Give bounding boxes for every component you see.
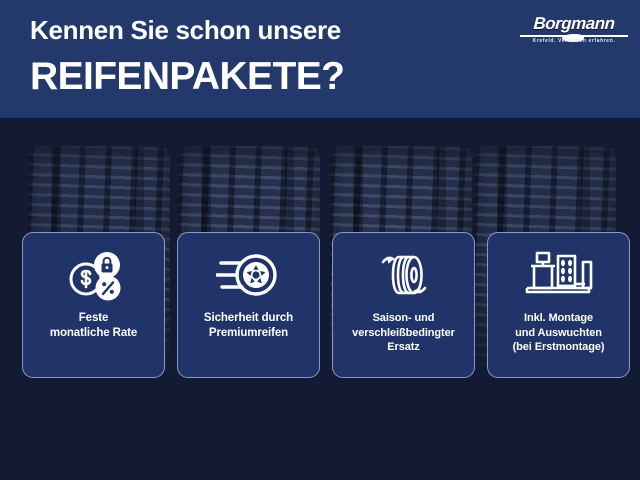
- logo-tagline: Krefeld. Vertrauen erfahren.: [518, 38, 630, 44]
- feature-card-line1: Saison- und: [338, 311, 470, 326]
- tire-stack-rotation-icon: [333, 247, 474, 303]
- feature-card-label: Sicherheit durch Premiumreifen: [183, 311, 315, 341]
- feature-card-line2: Premiumreifen: [183, 326, 315, 341]
- coin-lock-percent-icon: [23, 247, 164, 303]
- feature-card-line1: Feste: [28, 311, 160, 326]
- page-title: REIFENPAKETE?: [30, 55, 344, 99]
- feature-card-line1: Inkl. Montage: [493, 311, 625, 326]
- feature-card-line2: und Auswuchten: [493, 326, 625, 341]
- tire-speed-icon: [178, 247, 319, 303]
- feature-card[interactable]: Sicherheit durch Premiumreifen: [177, 232, 320, 378]
- feature-card[interactable]: Saison- und verschleißbedingter Ersatz: [332, 232, 475, 378]
- feature-card-label: Feste monatliche Rate: [28, 311, 160, 341]
- feature-card-line2: verschleißbedingter: [338, 326, 470, 341]
- promo-banner: Kennen Sie schon unsere REIFENPAKETE? Bo…: [0, 0, 640, 480]
- header-band: Kennen Sie schon unsere REIFENPAKETE? Bo…: [0, 0, 640, 118]
- feature-card-label: Saison- und verschleißbedingter Ersatz: [338, 311, 470, 355]
- feature-card-line1: Sicherheit durch: [183, 311, 315, 326]
- feature-card-line3: (bei Erstmontage): [493, 340, 625, 355]
- feature-card[interactable]: Inkl. Montage und Auswuchten (bei Erstmo…: [487, 232, 630, 378]
- logo-brand-text: Borgmann: [517, 14, 630, 34]
- headline-line1: Kennen Sie schon unsere: [30, 15, 341, 46]
- feature-card-label: Inkl. Montage und Auswuchten (bei Erstmo…: [493, 311, 625, 355]
- feature-card-line3: Ersatz: [338, 340, 470, 355]
- feature-card[interactable]: Feste monatliche Rate: [22, 232, 165, 378]
- tire-mounting-machine-icon: [488, 247, 629, 303]
- feature-card-line2: monatliche Rate: [28, 326, 160, 341]
- borgmann-logo-icon[interactable]: Borgmann Krefeld. Vertrauen erfahren.: [518, 14, 630, 48]
